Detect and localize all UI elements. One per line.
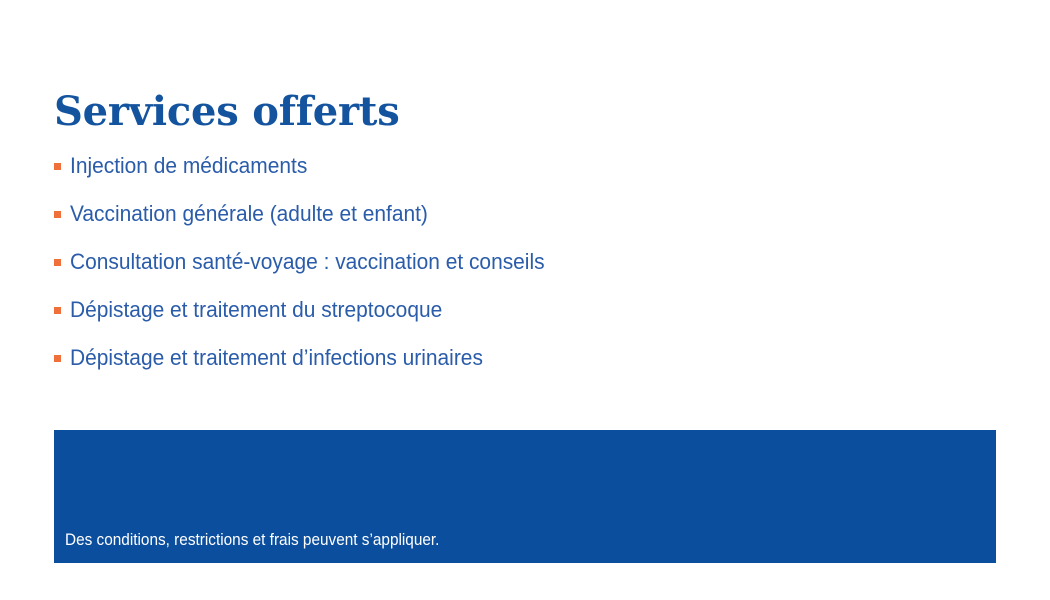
list-item[interactable]: Consultation santé-voyage : vaccination …	[54, 238, 994, 286]
square-bullet-icon	[54, 355, 61, 362]
square-bullet-icon	[54, 211, 61, 218]
disclaimer-text: Des conditions, restrictions et frais pe…	[65, 530, 439, 550]
disclaimer-banner: Des conditions, restrictions et frais pe…	[54, 430, 996, 563]
list-item[interactable]: Dépistage et traitement du streptocoque	[54, 286, 994, 334]
list-item[interactable]: Vaccination générale (adulte et enfant)	[54, 190, 994, 238]
list-item[interactable]: Dépistage et traitement d’infections uri…	[54, 334, 994, 382]
services-list: Injection de médicaments Vaccination gén…	[54, 142, 994, 382]
slide-canvas: Services offerts Injection de médicament…	[0, 0, 1050, 600]
square-bullet-icon	[54, 307, 61, 314]
list-item[interactable]: Injection de médicaments	[54, 142, 994, 190]
page-title: Services offerts	[54, 88, 400, 136]
square-bullet-icon	[54, 259, 61, 266]
list-item-label: Dépistage et traitement du streptocoque	[70, 297, 442, 323]
list-item-label: Consultation santé-voyage : vaccination …	[70, 249, 545, 275]
list-item-label: Vaccination générale (adulte et enfant)	[70, 201, 428, 227]
list-item-label: Injection de médicaments	[70, 153, 307, 179]
square-bullet-icon	[54, 163, 61, 170]
list-item-label: Dépistage et traitement d’infections uri…	[70, 345, 483, 371]
